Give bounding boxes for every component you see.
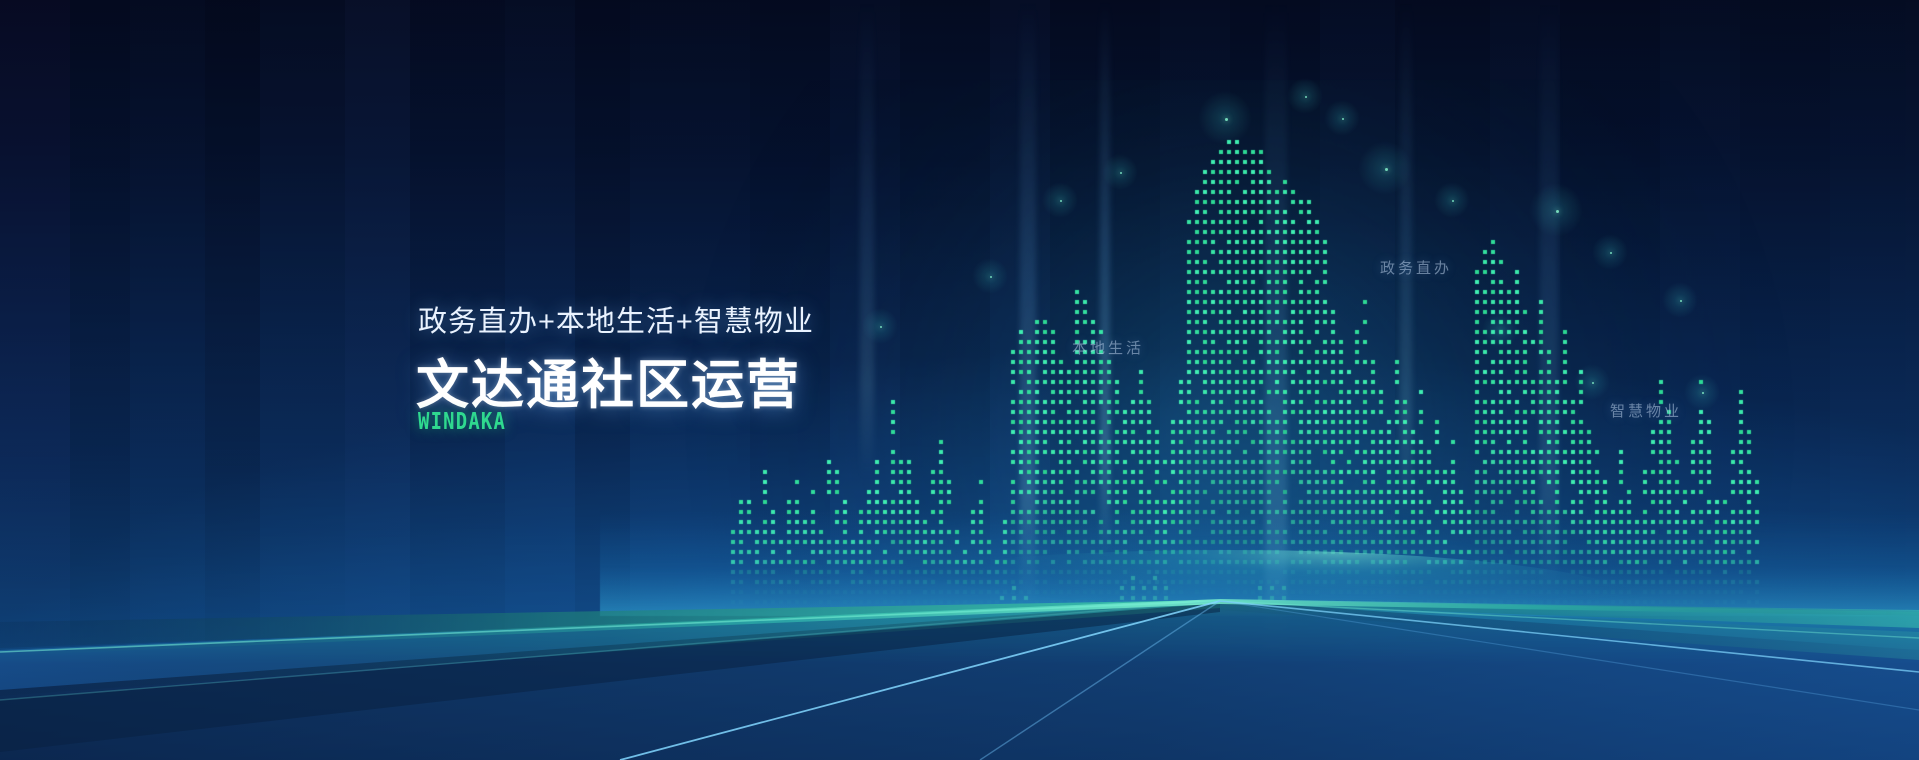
banner-hero: 本地生活政务直办智慧物业 政务直办+本地生活+智慧物业 文达通社区运营 WIND…: [0, 0, 1919, 760]
hero-subtitle: 政务直办+本地生活+智慧物业: [418, 298, 814, 340]
city-label-1: 本地生活: [1072, 337, 1144, 358]
hero-title: 文达通社区运营: [416, 343, 801, 419]
brand-wordmark: WINDAKA: [418, 409, 506, 435]
dot-matrix-skyline: [0, 0, 1919, 760]
city-label-3: 智慧物业: [1610, 400, 1682, 421]
city-label-2: 政务直办: [1380, 257, 1452, 278]
